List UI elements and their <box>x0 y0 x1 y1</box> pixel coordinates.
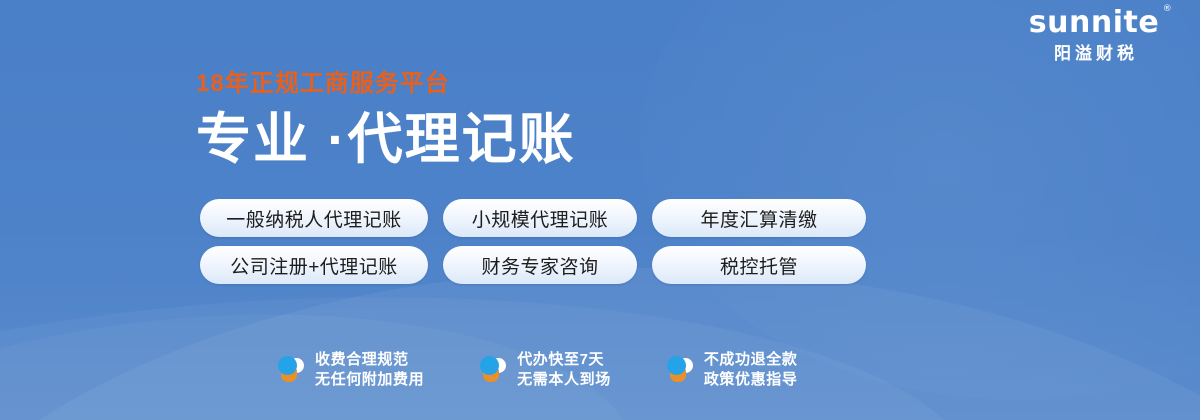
feature-line-1: 代办快至7天 <box>517 351 604 368</box>
dot-shape <box>278 356 297 375</box>
logo-wordmark-text: sunnite <box>1029 5 1159 40</box>
hero-eyebrow: 18年正规工商服务平台 <box>196 72 576 96</box>
moon-cup-icon <box>665 353 695 387</box>
logo-subtitle: 阳溢财税 <box>1006 45 1182 62</box>
service-pill-row-1: 一般纳税人代理记账 小规模代理记账 年度汇算清缴 <box>200 199 866 237</box>
hero-headline: 专业 ·代理记账 <box>196 112 576 167</box>
service-pill-tax-control-hosting[interactable]: 税控托管 <box>652 246 866 284</box>
feature-item-speed: 代办快至7天 无需本人到场 <box>478 350 611 390</box>
feature-text-pricing: 收费合理规范 无任何附加费用 <box>315 350 424 390</box>
service-pill-small-scale[interactable]: 小规模代理记账 <box>443 199 637 237</box>
feature-text-guarantee: 不成功退全款 政策优惠指导 <box>704 350 798 390</box>
moon-cup-icon <box>478 353 508 387</box>
service-pill-grid: 一般纳税人代理记账 小规模代理记账 年度汇算清缴 公司注册+代理记账 财务专家咨… <box>200 199 866 284</box>
moon-cup-icon <box>276 353 306 387</box>
feature-line-2: 无需本人到场 <box>517 371 611 388</box>
feature-list: 收费合理规范 无任何附加费用 代办快至7天 无需本人到场 不成功退全款 <box>276 350 797 390</box>
feature-line-1: 收费合理规范 <box>315 351 409 368</box>
feature-item-pricing: 收费合理规范 无任何附加费用 <box>276 350 424 390</box>
service-pill-company-registration[interactable]: 公司注册+代理记账 <box>200 246 428 284</box>
brand-logo[interactable]: sunnite ® 阳溢财税 <box>1006 8 1182 62</box>
hero-text-block: 18年正规工商服务平台 专业 ·代理记账 <box>196 72 576 167</box>
service-pill-row-2: 公司注册+代理记账 财务专家咨询 税控托管 <box>200 246 866 284</box>
promo-banner: sunnite ® 阳溢财税 18年正规工商服务平台 专业 ·代理记账 一般纳税… <box>0 0 1200 420</box>
feature-line-1: 不成功退全款 <box>704 351 798 368</box>
logo-wordmark: sunnite ® <box>1029 8 1159 38</box>
service-pill-annual-settlement[interactable]: 年度汇算清缴 <box>652 199 866 237</box>
service-pill-general-taxpayer[interactable]: 一般纳税人代理记账 <box>200 199 428 237</box>
feature-text-speed: 代办快至7天 无需本人到场 <box>517 350 611 390</box>
dot-shape <box>667 356 686 375</box>
feature-line-2: 无任何附加费用 <box>315 371 424 388</box>
registered-trademark-icon: ® <box>1163 5 1173 14</box>
feature-line-2: 政策优惠指导 <box>704 371 798 388</box>
service-pill-finance-consulting[interactable]: 财务专家咨询 <box>443 246 637 284</box>
feature-item-guarantee: 不成功退全款 政策优惠指导 <box>665 350 798 390</box>
